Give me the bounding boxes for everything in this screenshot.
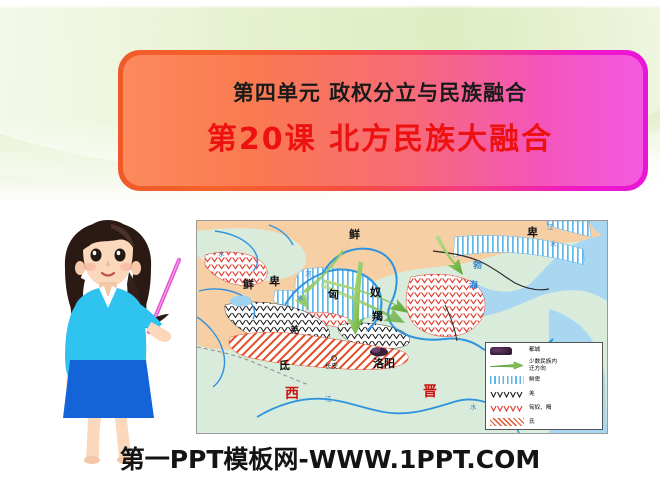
legend-label-di: 氐 bbox=[529, 419, 535, 425]
map-label-shui-4: 水 bbox=[550, 241, 557, 248]
legend-label-xiongnu: 匈奴、羯 bbox=[529, 405, 551, 411]
map-legend: 都城 少数民族内 迁方向 鲜卑 bbox=[485, 342, 603, 430]
map-label-shui-3: 水 bbox=[470, 404, 477, 411]
unit-title: 第四单元 政权分立与民族融合 bbox=[233, 77, 527, 107]
legend-item-capital: 都城 bbox=[490, 344, 602, 357]
arrow-icon bbox=[490, 361, 524, 370]
eye-highlight-right bbox=[117, 251, 121, 255]
ear-left bbox=[75, 261, 85, 275]
map-label-di: 氐 bbox=[279, 360, 290, 371]
legend-label-capital: 都城 bbox=[529, 347, 540, 353]
map-label-shui-2: 水 bbox=[218, 251, 225, 258]
legend-item-qiang: 羌 bbox=[490, 388, 602, 401]
xianbei-pattern-icon bbox=[490, 376, 524, 385]
map-label-xi: 西 bbox=[285, 387, 299, 401]
map-label-jin: 晋 bbox=[423, 385, 437, 399]
eye-highlight-left bbox=[93, 251, 97, 255]
map-label-luoyang: 洛阳 bbox=[373, 358, 395, 369]
legend-item-xianbei: 鲜卑 bbox=[490, 374, 602, 387]
legend-label-migration: 少数民族内 迁方向 bbox=[529, 359, 557, 372]
map-label-xian-nw: 鲜 bbox=[243, 279, 254, 290]
blush-right bbox=[120, 263, 132, 271]
legend-label-xianbei: 鲜卑 bbox=[529, 377, 540, 383]
ear-right bbox=[131, 261, 141, 275]
history-map: 鲜 卑 鲜 卑 匈 奴 羯 羌 氐 长安 洛阳 西 晋 勃 海 河 水 水 江 … bbox=[196, 220, 608, 434]
presentation-slide: 第四单元 政权分立与民族融合 第20课 北方民族大融合 bbox=[0, 0, 660, 495]
map-label-bei-nw: 卑 bbox=[269, 276, 280, 287]
map-label-hai: 海 bbox=[469, 282, 478, 291]
title-block: 第四单元 政权分立与民族融合 第20课 北方民族大融合 bbox=[118, 50, 642, 185]
map-label-jiang-2: 江 bbox=[547, 224, 554, 231]
map-label-jie: 羯 bbox=[372, 311, 383, 322]
map-label-xiong: 匈 bbox=[328, 289, 339, 300]
map-label-jiang-1: 江 bbox=[325, 396, 332, 403]
map-label-nu: 奴 bbox=[370, 287, 381, 298]
map-label-changan: 长安 bbox=[325, 363, 338, 370]
capital-icon bbox=[490, 346, 524, 355]
footer-watermark: 第一PPT模板网-WWW.1PPT.COM bbox=[0, 440, 660, 476]
page-title: 第20课 北方民族大融合 bbox=[207, 114, 553, 158]
xiongnu-pattern-icon bbox=[490, 404, 524, 413]
legend-label-qiang: 羌 bbox=[529, 391, 535, 397]
map-label-he: 河 bbox=[305, 271, 312, 278]
map-label-qiang: 羌 bbox=[290, 327, 299, 336]
skirt bbox=[63, 360, 154, 418]
legend-item-migration: 少数民族内 迁方向 bbox=[490, 358, 602, 373]
band-top-edge bbox=[0, 0, 660, 9]
teacher-illustration bbox=[33, 214, 183, 466]
eye-left bbox=[91, 249, 102, 262]
map-label-bei-ne: 卑 bbox=[527, 227, 538, 238]
legend-item-di: 氐 bbox=[490, 416, 602, 429]
legend-item-xiongnu: 匈奴、羯 bbox=[490, 402, 602, 415]
map-label-shui-1: 水 bbox=[297, 295, 304, 302]
qiang-pattern-icon bbox=[490, 390, 524, 399]
map-label-xian-ne: 鲜 bbox=[349, 229, 360, 240]
blush-left bbox=[84, 263, 96, 271]
map-label-bo: 勃 bbox=[473, 262, 482, 271]
lake-qinghai bbox=[230, 296, 252, 307]
di-pattern-icon bbox=[490, 418, 524, 427]
eye-right bbox=[115, 249, 126, 262]
